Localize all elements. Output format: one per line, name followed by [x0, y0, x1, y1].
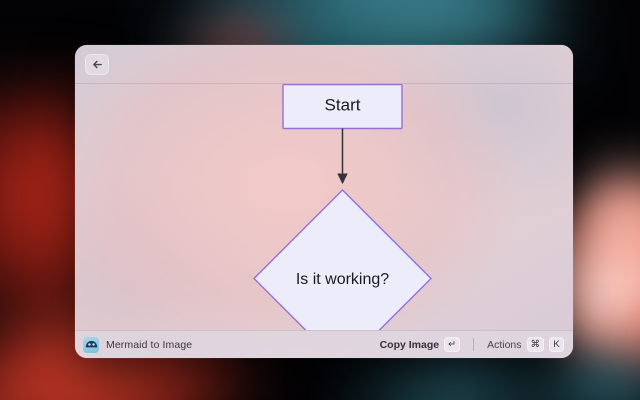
actions-label: Actions [487, 339, 521, 351]
node-decision-label: Is it working? [296, 271, 389, 288]
copy-image-action[interactable]: Copy Image ↵ [380, 337, 460, 352]
command-key-badge: ⌘ [527, 337, 545, 352]
mermaid-flowchart: Start Is it working? [75, 84, 573, 330]
app-name-label: Mermaid to Image [106, 339, 192, 351]
diagram-canvas: Start Is it working? [75, 84, 573, 330]
desktop-background: Start Is it working? [0, 0, 640, 400]
footer-divider [473, 338, 474, 351]
actions-menu[interactable]: Actions ⌘ K [487, 337, 564, 352]
mermaid-preview-window: Start Is it working? [75, 45, 573, 358]
node-decision-shape [254, 190, 431, 330]
enter-key-badge: ↵ [444, 337, 460, 352]
node-start-label: Start [325, 95, 361, 114]
flowchart-node-start[interactable]: Start [283, 85, 402, 129]
arrow-left-icon [92, 59, 103, 70]
flowchart-node-decision[interactable]: Is it working? [254, 190, 431, 330]
wallpaper-blob-pink-right-2 [570, 150, 640, 280]
back-button[interactable] [85, 54, 109, 75]
copy-image-label: Copy Image [380, 339, 440, 351]
mermaid-app-icon [83, 337, 99, 353]
window-header [75, 45, 573, 84]
k-key-badge: K [549, 337, 564, 352]
window-footer: Mermaid to Image Copy Image ↵ Actions ⌘ … [75, 330, 573, 358]
